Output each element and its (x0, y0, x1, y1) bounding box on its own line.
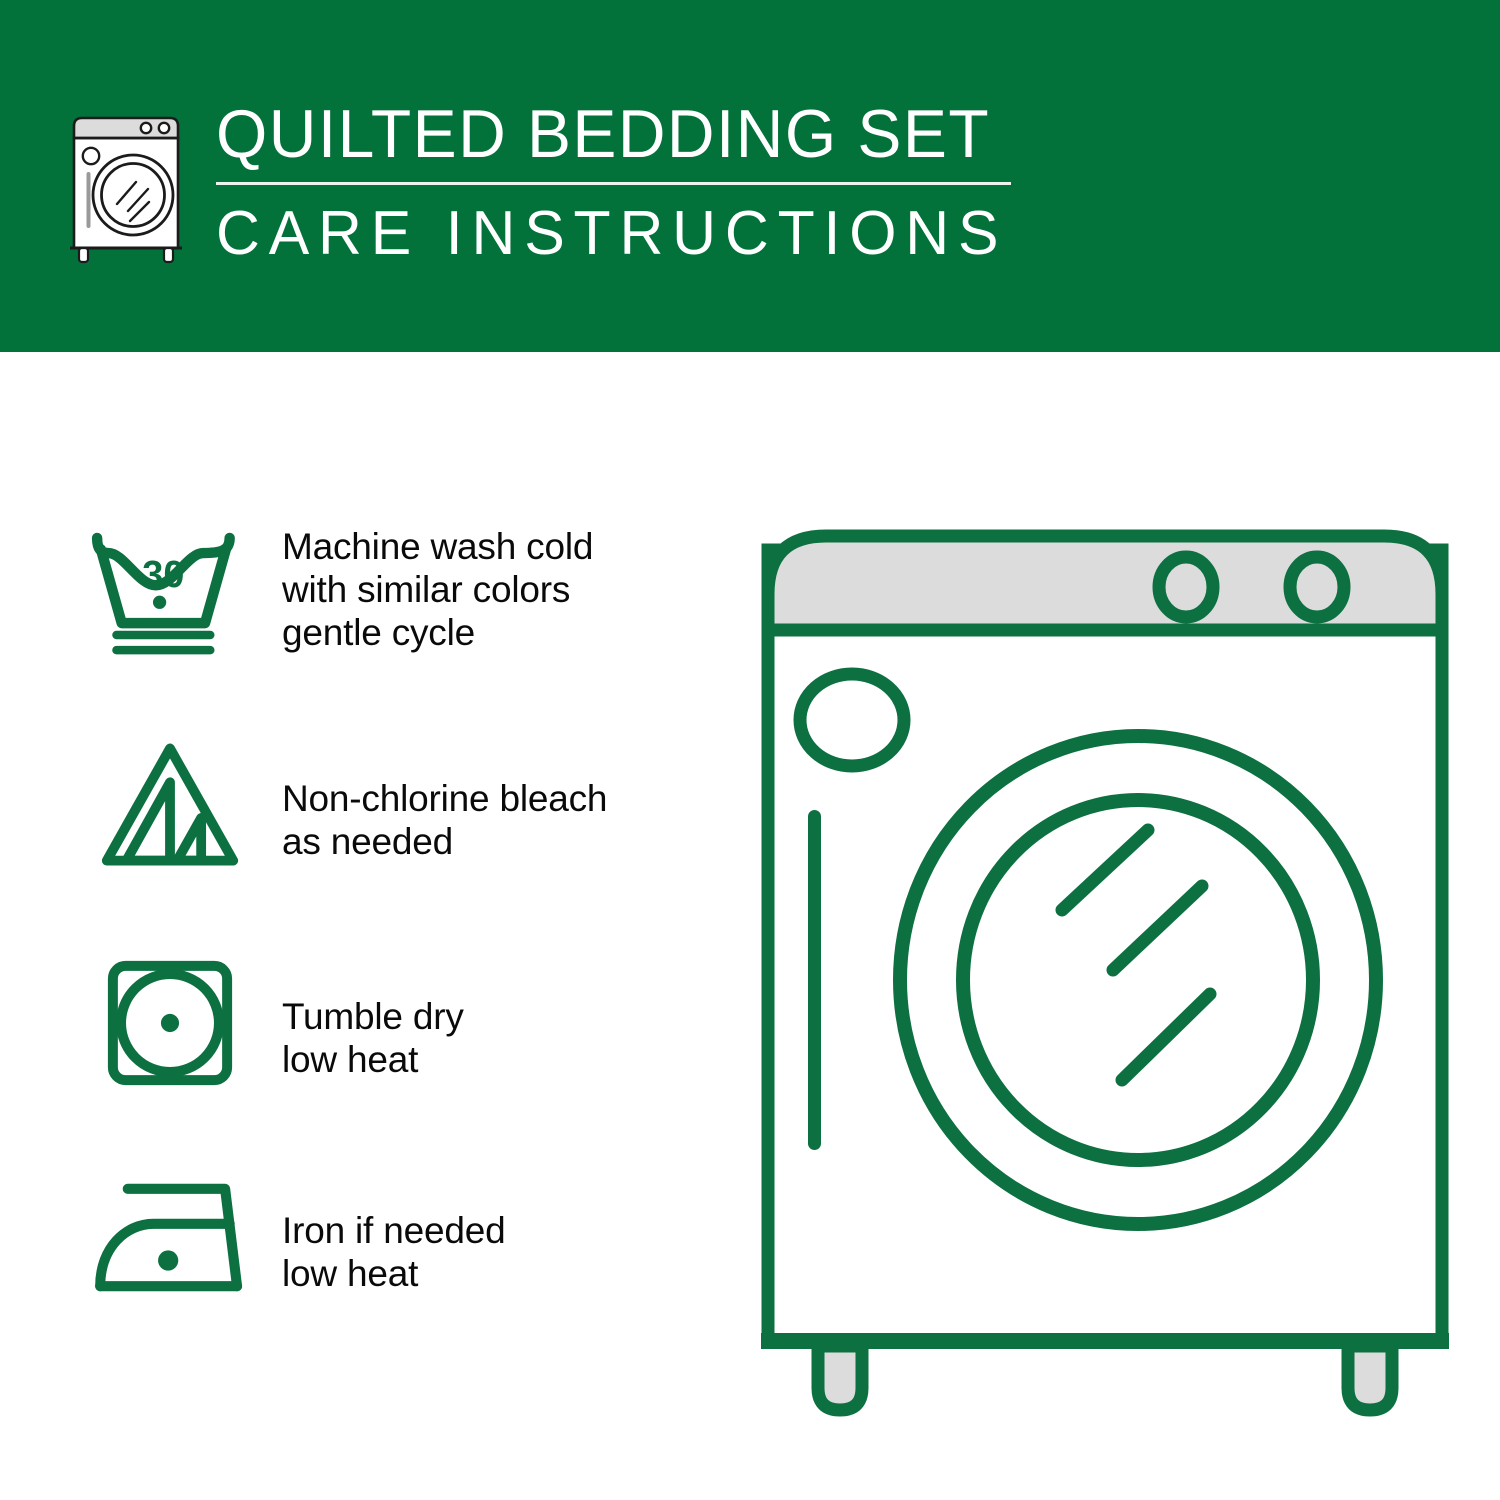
care-label-line: as needed (282, 820, 730, 863)
care-label-machine-wash: Machine wash cold with similar colors ge… (270, 505, 730, 654)
care-label-iron: Iron if needed low heat (270, 1165, 730, 1295)
iron-low-heat-icon (70, 1165, 270, 1310)
front-load-washing-machine-illustration (740, 490, 1470, 1440)
care-label-line: low heat (282, 1252, 730, 1295)
care-row-iron: Iron if needed low heat (70, 1165, 730, 1385)
wash-temperature-value: 30 (142, 554, 184, 596)
care-row-machine-wash: 30 Machine wash cold with similar colors… (70, 505, 730, 725)
tumble-dry-low-icon (70, 945, 270, 1100)
care-label-line: Tumble dry (282, 995, 730, 1038)
care-label-line: with similar colors (282, 568, 730, 611)
washing-machine-icon (60, 104, 205, 266)
care-label-line: low heat (282, 1038, 730, 1081)
header-text-block: QUILTED BEDDING SET CARE INSTRUCTIONS (216, 96, 1016, 267)
care-label-line: Non-chlorine bleach (282, 777, 730, 820)
title-divider (216, 182, 1011, 185)
header-banner: QUILTED BEDDING SET CARE INSTRUCTIONS (0, 0, 1500, 352)
care-instructions-page: QUILTED BEDDING SET CARE INSTRUCTIONS (0, 0, 1500, 1500)
non-chlorine-bleach-triangle-icon (70, 725, 270, 885)
care-label-line: gentle cycle (282, 611, 730, 654)
care-label-line: Machine wash cold (282, 525, 730, 568)
page-subtitle: CARE INSTRUCTIONS (216, 201, 1000, 267)
care-row-tumble-dry: Tumble dry low heat (70, 945, 730, 1165)
care-label-tumble-dry: Tumble dry low heat (270, 945, 730, 1081)
care-label-bleach: Non-chlorine bleach as needed (270, 725, 730, 863)
care-row-bleach: Non-chlorine bleach as needed (70, 725, 730, 945)
care-label-line: Iron if needed (282, 1209, 730, 1252)
care-instruction-list: 30 Machine wash cold with similar colors… (70, 505, 730, 1385)
page-title: QUILTED BEDDING SET (216, 96, 992, 172)
wash-tub-30-gentle-icon: 30 (70, 505, 270, 675)
